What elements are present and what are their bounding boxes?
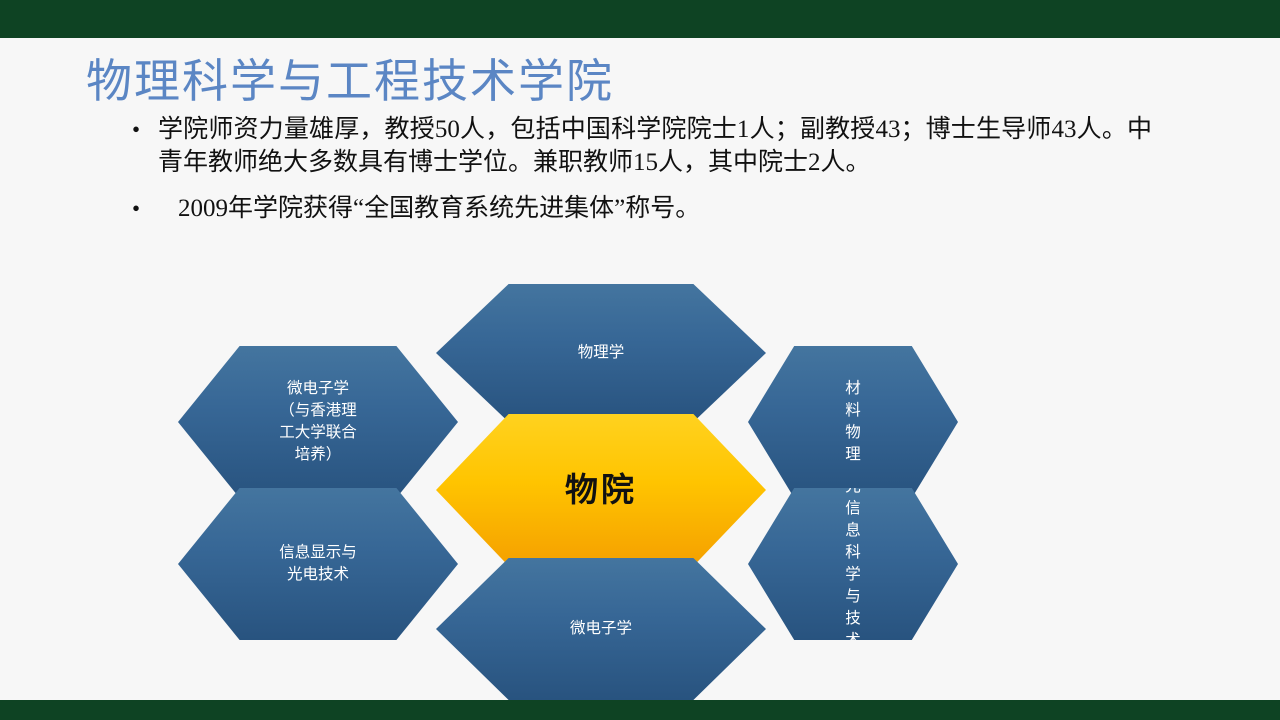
list-item: • 2009年学院获得“全国教育系统先进集体”称号。	[132, 192, 1152, 225]
list-item: • 学院师资力量雄厚，教授50人，包括中国科学院院士1人；副教授43；博士生导师…	[132, 113, 1152, 179]
hex-node-left-upper: 微电子学（与香港理工大学联合培养）	[178, 346, 458, 498]
hex-node-top: 物理学	[436, 284, 766, 422]
bullet-marker-icon: •	[132, 192, 158, 225]
hex-node-left-lower: 信息显示与光电技术	[178, 488, 458, 640]
hex-node-right-lower: 光信息科学与技术	[748, 488, 958, 640]
hex-node-right-lower-label: 光信息科学与技术	[842, 476, 865, 652]
hex-node-right-upper: 材料物理	[748, 346, 958, 498]
hex-node-bottom-label: 微电子学	[530, 618, 673, 640]
hex-node-center-label: 物院	[530, 479, 673, 501]
hex-node-right-upper-label: 材料物理	[842, 378, 865, 466]
hex-node-top-label: 物理学	[530, 342, 673, 364]
list-item-text: 学院师资力量雄厚，教授50人，包括中国科学院院士1人；副教授43；博士生导师43…	[158, 113, 1152, 179]
hexagon-diagram: 物理学 微电子学（与香港理工大学联合培养） 材料物理 物院 信息显示与光电技术 …	[178, 280, 958, 700]
hex-node-left-lower-label: 信息显示与光电技术	[272, 542, 365, 586]
page-title: 物理科学与工程技术学院	[86, 54, 614, 110]
bullet-list: • 学院师资力量雄厚，教授50人，包括中国科学院院士1人；副教授43；博士生导师…	[132, 113, 1152, 238]
list-item-text: 2009年学院获得“全国教育系统先进集体”称号。	[158, 192, 1152, 225]
hex-node-bottom: 微电子学	[436, 558, 766, 700]
bottom-accent-bar	[0, 700, 1280, 720]
hex-node-left-upper-label: 微电子学（与香港理工大学联合培养）	[272, 378, 365, 466]
slide: 物理科学与工程技术学院 • 学院师资力量雄厚，教授50人，包括中国科学院院士1人…	[0, 0, 1280, 720]
hex-node-center: 物院	[436, 414, 766, 566]
bullet-marker-icon: •	[132, 113, 158, 179]
top-accent-bar	[0, 0, 1280, 38]
